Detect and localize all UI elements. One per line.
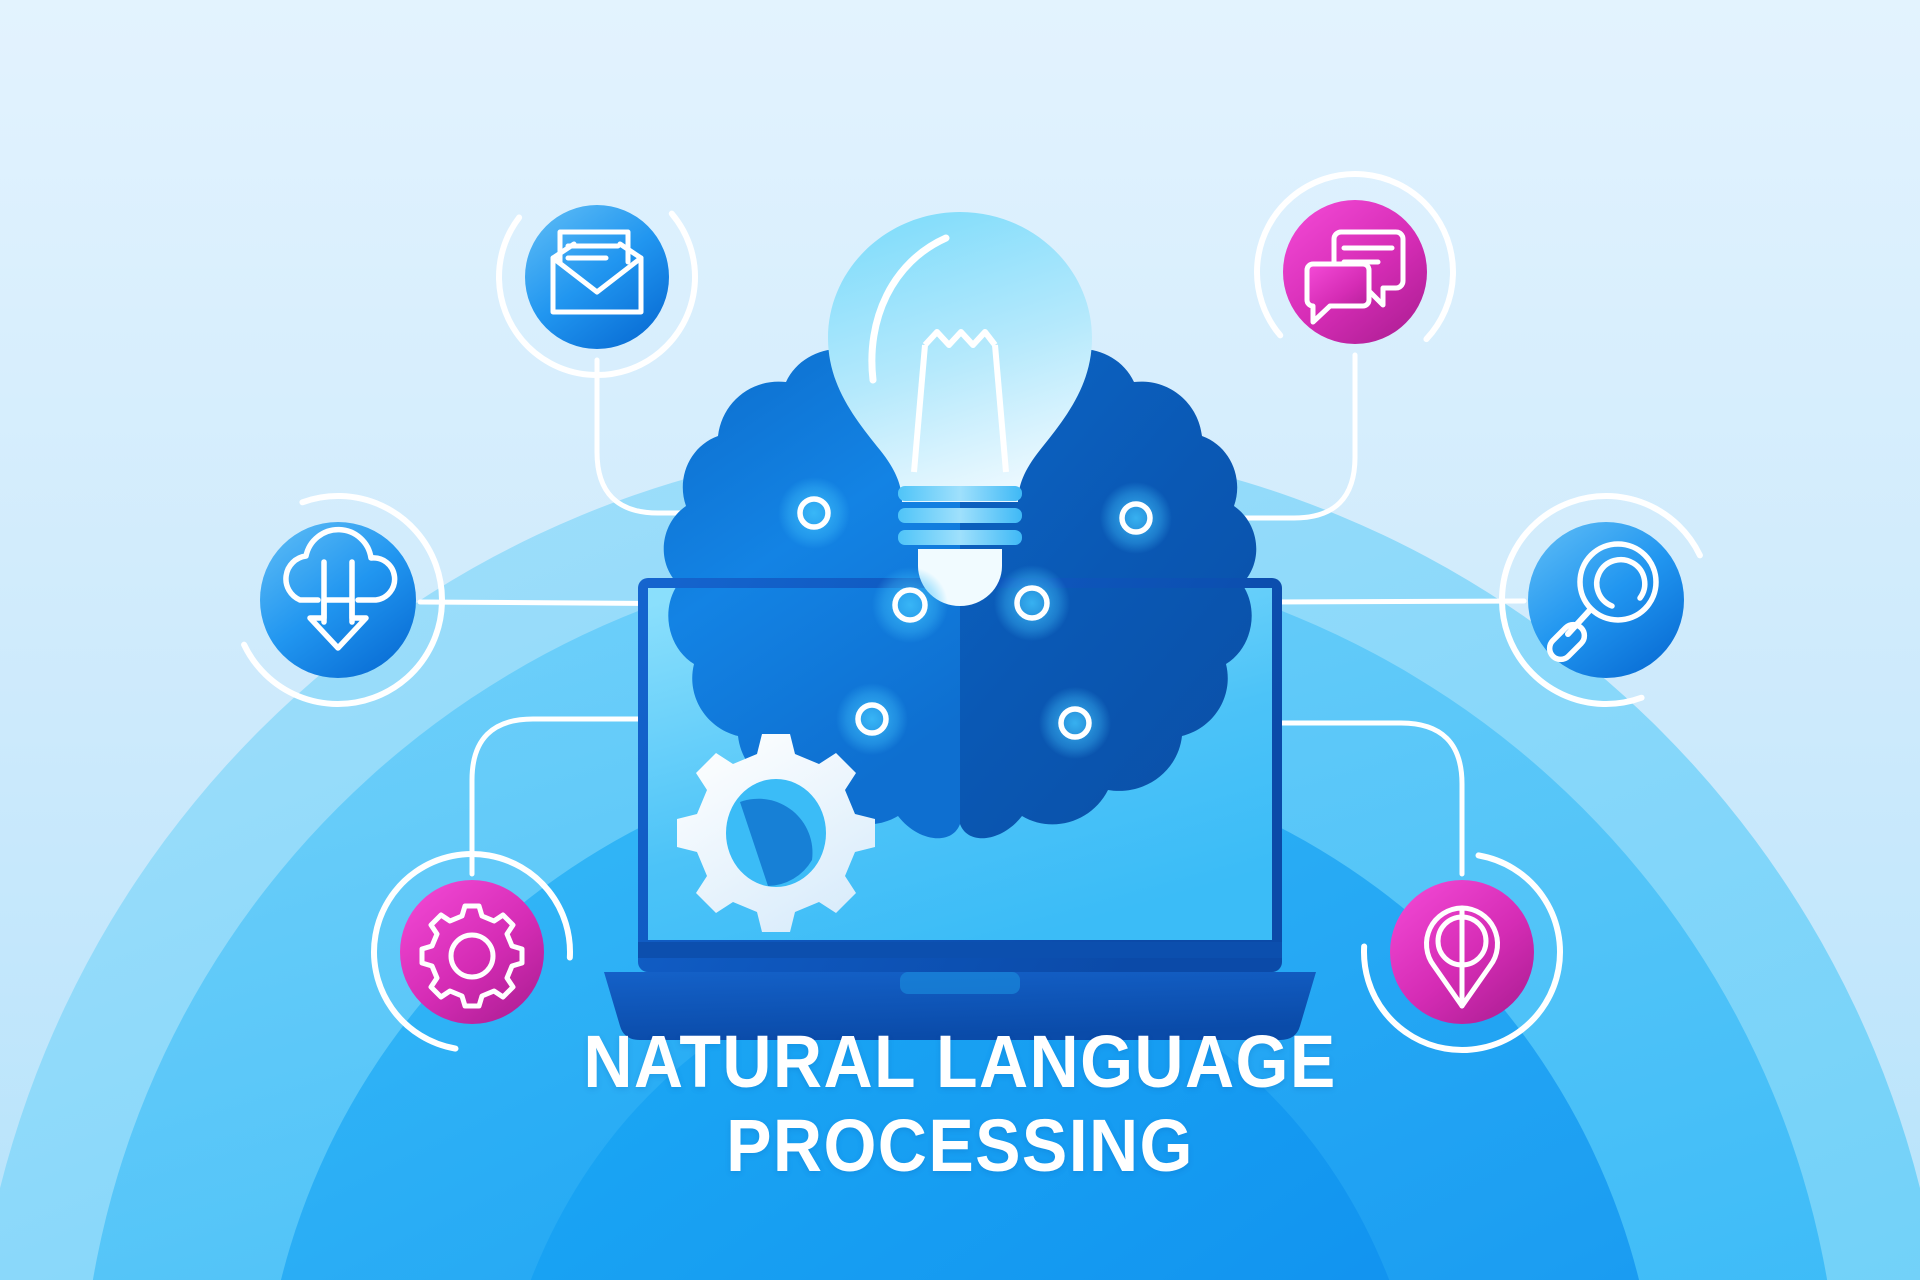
bulb-screw-base (898, 486, 1022, 545)
brain-node-bottom-right (1039, 687, 1111, 759)
brain-node-mid-right (994, 565, 1070, 641)
brain-node-top-right (1100, 482, 1172, 554)
laptop-bezel-strip (638, 942, 1282, 958)
laptop-trackpad (900, 972, 1020, 994)
brain-node-top-left (778, 477, 850, 549)
envelope-icon-disc (525, 205, 669, 349)
infographic-canvas: NATURAL LANGUAGE PROCESSING (0, 0, 1920, 1280)
infographic-svg (0, 0, 1920, 1280)
screen-gear-overlay (677, 734, 875, 932)
brain-node-mid-left (872, 567, 948, 643)
brain-node-bottom-left (836, 683, 908, 755)
